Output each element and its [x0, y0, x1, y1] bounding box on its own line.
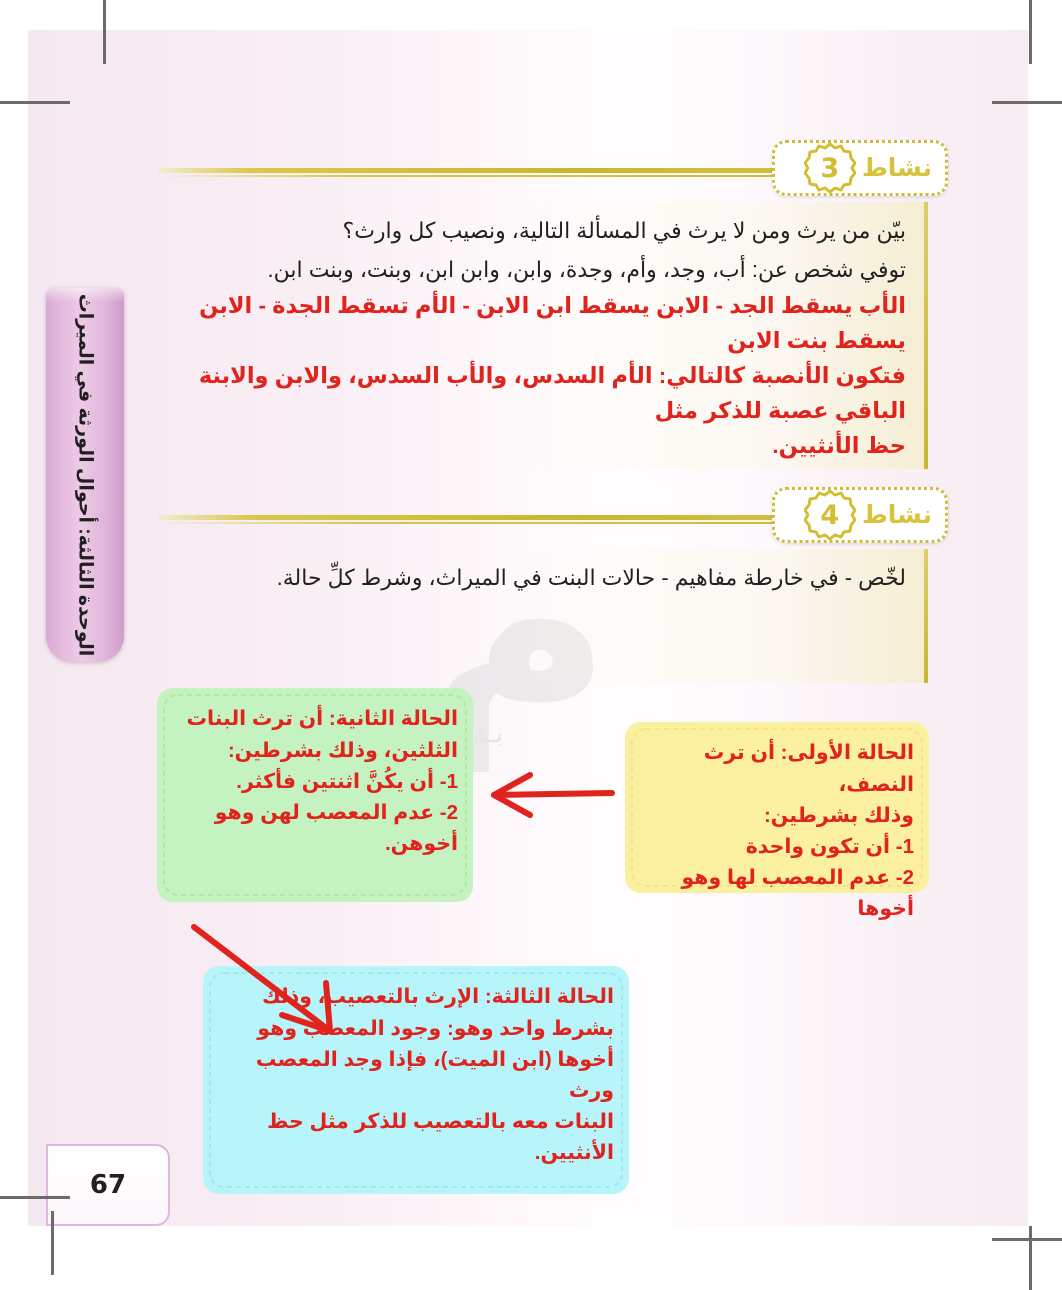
activity-block-3: نشاط 3 بيّن من يرث ومن لا يرث في المسألة… [138, 140, 928, 469]
case-two-line-2: الثلثين، وذلك بشرطين: [172, 735, 458, 766]
page-number: 67 [90, 1170, 126, 1200]
concept-box-case-one: الحالة الأولى: أن ترث النصف، وذلك بشرطين… [618, 715, 936, 900]
textbook-page: م بـدايــة التـ الوحدة الثالثة: أحوال ال… [28, 30, 1028, 1226]
case-one-line-4: 2- عدم المعصب لها وهو أخوها [640, 862, 914, 924]
arrow-case-two-to-case-three [178, 915, 368, 1050]
activity-3-number: 3 [804, 142, 856, 194]
activity-3-badge: نشاط 3 [772, 140, 948, 196]
crop-mark-bottom-left-horizontal [0, 1196, 70, 1199]
crop-mark-top-left-horizontal [0, 101, 70, 104]
crop-mark-top-right-vertical [1029, 0, 1032, 64]
activity-4-badge: نشاط 4 [772, 487, 948, 543]
activity-3-badge-word: نشاط [862, 153, 938, 183]
activity-4-question-line-1: لخّص - في خارطة مفاهيم - حالات البنت في … [148, 559, 906, 598]
crop-mark-bottom-right-horizontal [992, 1238, 1062, 1241]
arrow-case-one-to-case-two [478, 767, 618, 828]
activity-3-header: نشاط 3 [138, 140, 928, 202]
crop-mark-top-left-vertical [103, 0, 106, 64]
activity-3-badge-number-shape: 3 [804, 142, 856, 194]
case-three-line-4: البنات معه بالتعصيب للذكر مثل حظ [218, 1106, 614, 1137]
activity-4-header: نشاط 4 [138, 487, 928, 549]
crop-mark-bottom-left-vertical [51, 1211, 54, 1275]
crop-mark-bottom-right-vertical [1029, 1226, 1032, 1290]
case-two-line-5: أخوهن. [172, 828, 458, 859]
page-content: نشاط 3 بيّن من يرث ومن لا يرث في المسألة… [138, 140, 928, 1140]
case-two-line-4: 2- عدم المعصب لهن وهو [172, 797, 458, 828]
activity-3-answer-line-1: الأب يسقط الجد - الابن يسقط ابن الابن - … [148, 289, 906, 359]
case-two-line-1: الحالة الثانية: أن ترث البنات [172, 703, 458, 734]
activity-3-body: بيّن من يرث ومن لا يرث في المسألة التالي… [138, 202, 928, 469]
activity-3-question-line-1: بيّن من يرث ومن لا يرث في المسألة التالي… [148, 212, 906, 251]
activity-3-answer-line-2: فتكون الأنصبة كالتالي: الأم السدس، والأب… [148, 359, 906, 429]
concept-box-case-two: الحالة الثانية: أن ترث البنات الثلثين، و… [150, 681, 480, 909]
case-one-line-3: 1- أن تكون واحدة [640, 831, 914, 862]
concept-map: الحالة الأولى: أن ترث النصف، وذلك بشرطين… [138, 687, 928, 1226]
activity-4-badge-word: نشاط [862, 500, 938, 530]
case-one-text: الحالة الأولى: أن ترث النصف، وذلك بشرطين… [640, 737, 914, 924]
case-two-text: الحالة الثانية: أن ترث البنات الثلثين، و… [172, 703, 458, 859]
case-one-line-2: وذلك بشرطين: [640, 800, 914, 831]
unit-side-tab: الوحدة الثالثة: أحوال الورثة في الميراث [46, 288, 124, 662]
unit-side-tab-label: الوحدة الثالثة: أحوال الورثة في الميراث [74, 294, 97, 657]
activity-4-body: لخّص - في خارطة مفاهيم - حالات البنت في … [138, 549, 928, 683]
activity-3-question-line-2: توفي شخص عن: أب، وجد، وأم، وجدة، وابن، و… [148, 251, 906, 290]
activity-3-answer-line-3: حظ الأنثيين. [148, 429, 906, 464]
activity-4-number: 4 [804, 489, 856, 541]
activity-block-4: نشاط 4 لخّص - في خارطة مفاهيم - حالات ال… [138, 487, 928, 683]
crop-mark-top-right-horizontal [992, 101, 1062, 104]
case-two-line-3: 1- أن يكُنَّ اثنتين فأكثر. [172, 766, 458, 797]
activity-4-badge-number-shape: 4 [804, 489, 856, 541]
case-three-line-5: الأنثيين. [218, 1137, 614, 1168]
page-number-box: 67 [46, 1144, 170, 1226]
case-three-line-3: أخوها (ابن الميت)، فإذا وجد المعصب ورث [218, 1044, 614, 1106]
case-one-line-1: الحالة الأولى: أن ترث النصف، [640, 737, 914, 799]
